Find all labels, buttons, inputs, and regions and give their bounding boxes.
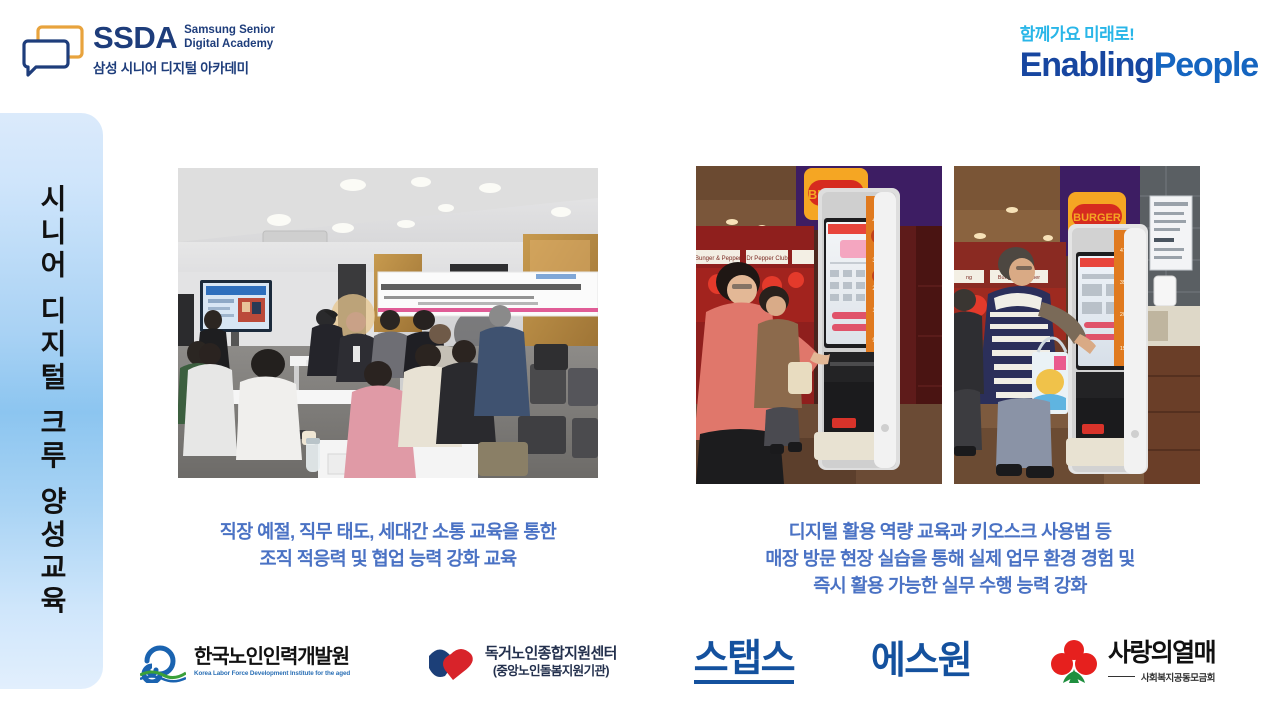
caption-left-line2: 조직 적응력 및 협업 능력 강화 교육: [148, 546, 628, 573]
fruit-korean: 사랑의열매: [1108, 641, 1215, 666]
caption-right-line3: 즉시 활용 가능한 실무 수행 능력 강화: [690, 573, 1210, 600]
kiosk-practice-photo-2: BURGER KING ng Bunger & Pepper: [954, 166, 1200, 484]
blue-swirl-wave-icon: [140, 641, 186, 683]
ssda-subtitle-line1: Samsung Senior: [184, 24, 275, 38]
svg-text:Dr Pepper Club: Dr Pepper Club: [746, 256, 788, 262]
enabling-people-tagline: 함께가요 미래로!: [1020, 26, 1258, 45]
partner-dokgeo-senior-support-center: 독거노인종합지원센터 (중앙노인돌봄지원기관): [427, 642, 617, 682]
dok-line2: (중앙노인돌봄지원기관): [493, 664, 609, 680]
dok-line1: 독거노인종합지원센터: [485, 645, 617, 664]
ssda-wordmark: SSDA Samsung Senior Digital Academy 삼성 시…: [93, 22, 275, 77]
ssda-subtitle-line2: Digital Academy: [184, 38, 275, 52]
caption-right-line2: 매장 방문 현장 실습을 통해 실제 업무 환경 경험 및: [690, 546, 1210, 573]
partner-korea-labor-force-development-institute: 한국노인인력개발원 Korea Labor Force Development …: [140, 641, 350, 683]
partner-s1-corporation: 에스원: [871, 642, 971, 682]
enabling-word: Enabling: [1020, 46, 1154, 84]
partner-logo-row: 한국노인인력개발원 Korea Labor Force Development …: [140, 626, 1215, 698]
fruit-divider: [1108, 676, 1135, 677]
caption-left-line1: 직장 예절, 직무 태도, 세대간 소통 교육을 통한: [148, 519, 628, 546]
svg-text:Bunger & Pepper: Bunger & Pepper: [696, 256, 741, 262]
caption-left: 직장 예절, 직무 태도, 세대간 소통 교육을 통한 조직 적응력 및 협업 …: [148, 519, 628, 573]
two-speech-bubbles-icon: [22, 23, 84, 77]
dok-wordmark: 독거노인종합지원센터 (중앙노인돌봄지원기관): [485, 645, 617, 679]
ssda-logo: SSDA Samsung Senior Digital Academy 삼성 시…: [22, 22, 275, 77]
fruit-english: 사회복지공동모금회: [1141, 670, 1215, 684]
enabling-people-logo: 함께가요 미래로! EnablingPeople: [1020, 26, 1258, 83]
vertical-title-bar: 시니어 디지털 크루 양성교육: [0, 113, 103, 689]
fruit-wordmark: 사랑의열매 사회복지공동모금회: [1108, 641, 1215, 684]
svg-text:BURGER: BURGER: [1073, 212, 1121, 224]
navy-red-heart-icon: [427, 642, 477, 682]
three-red-fruits-icon: [1048, 639, 1100, 685]
caption-right: 디지털 활용 역량 교육과 키오스크 사용법 등 매장 방문 현장 실습을 통해…: [690, 519, 1210, 599]
classroom-training-photo: [178, 168, 598, 478]
caption-right-line1: 디지털 활용 역량 교육과 키오스크 사용법 등: [690, 519, 1210, 546]
partner-community-chest-of-korea: 사랑의열매 사회복지공동모금회: [1048, 639, 1215, 685]
vertical-title-text: 시니어 디지털 크루 양성교육: [38, 184, 66, 618]
enabling-people-wordmark: EnablingPeople: [1020, 48, 1258, 84]
klo-korean: 한국노인인력개발원: [194, 647, 350, 667]
slide-root: SSDA Samsung Senior Digital Academy 삼성 시…: [0, 0, 1280, 720]
ssda-korean-name: 삼성 시니어 디지털 아카데미: [93, 57, 275, 77]
people-word: People: [1154, 46, 1258, 84]
s1-wordmark: 에스원: [871, 642, 971, 682]
klo-english: Korea Labor Force Development Institute …: [194, 670, 350, 677]
partner-staffs: 스탭스: [694, 640, 794, 685]
svg-text:ng: ng: [966, 275, 972, 281]
staffs-wordmark: 스탭스: [694, 640, 794, 685]
klo-wordmark: 한국노인인력개발원 Korea Labor Force Development …: [194, 647, 350, 677]
ssda-acronym: SSDA: [93, 22, 177, 53]
kiosk-practice-photo-1: BURGER KING Bunger & Pepper Dr Pepper Cl…: [696, 166, 942, 484]
